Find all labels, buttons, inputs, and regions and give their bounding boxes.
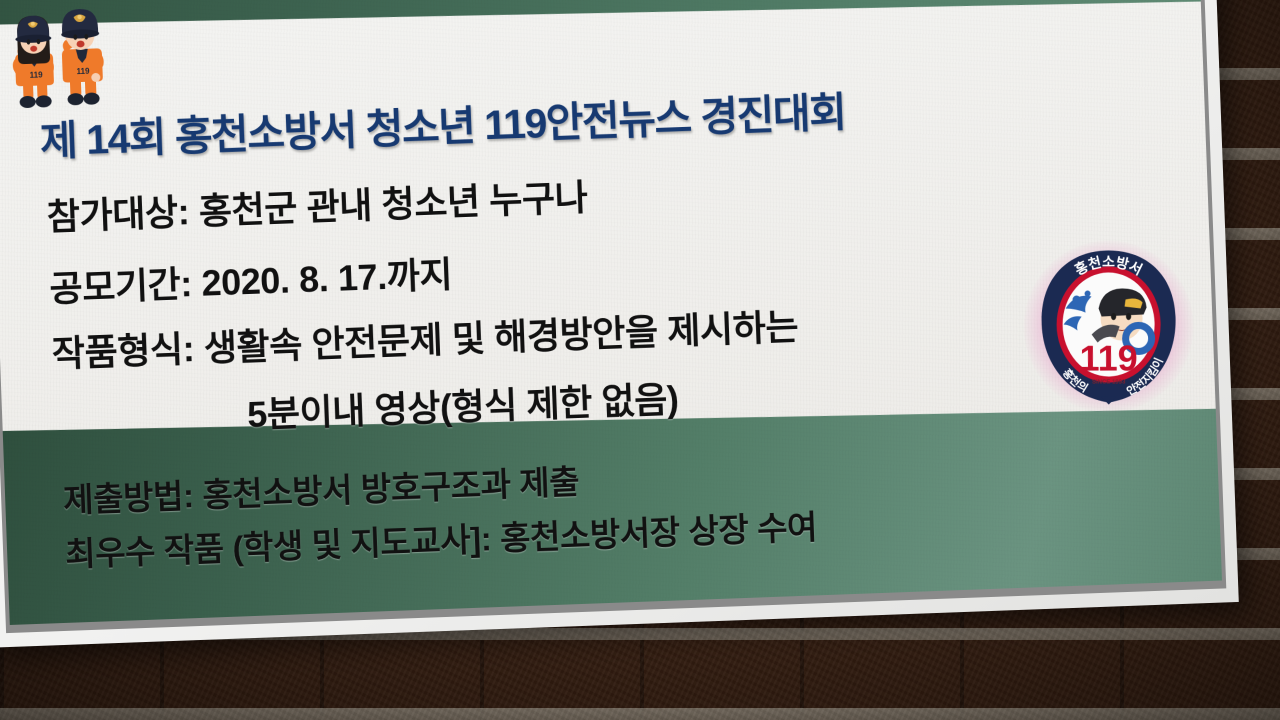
male-firefighter-mascot: 119 — [49, 3, 113, 109]
line-submission-period: 공모기간: 2020. 8. 17.까지 — [48, 246, 453, 313]
line-participation-target: 참가대상: 홍천군 관내 청소년 누구나 — [46, 169, 588, 241]
line-work-format-2: 5분이내 영상(형식 제한 없음) — [246, 370, 679, 438]
page-title: 제 14회 홍천소방서 청소년 119안전뉴스 경진대회 — [39, 78, 846, 167]
emblem-number: 119 — [1080, 337, 1138, 378]
emblem-since: SINCE 1993 — [1092, 379, 1126, 385]
line-work-format-1: 작품형식: 생활속 안전문제 및 해경방안을 제시하는 — [51, 298, 799, 377]
poster-slide-canvas: 제 14회 홍천소방서 청소년 119안전뉴스 경진대회 참가대상: 홍천군 관… — [0, 0, 1222, 625]
svg-text:119: 119 — [30, 70, 44, 79]
svg-text:119: 119 — [76, 67, 90, 76]
hongcheon-fire-station-emblem: 119 SINCE 1993 홍천소방서 홍천의 안전지킴이 — [1029, 246, 1187, 406]
poster: 제 14회 홍천소방서 청소년 119안전뉴스 경진대회 참가대상: 홍천군 관… — [0, 0, 1239, 648]
poster-white-frame: 제 14회 홍천소방서 청소년 119안전뉴스 경진대회 참가대상: 홍천군 관… — [0, 0, 1239, 648]
